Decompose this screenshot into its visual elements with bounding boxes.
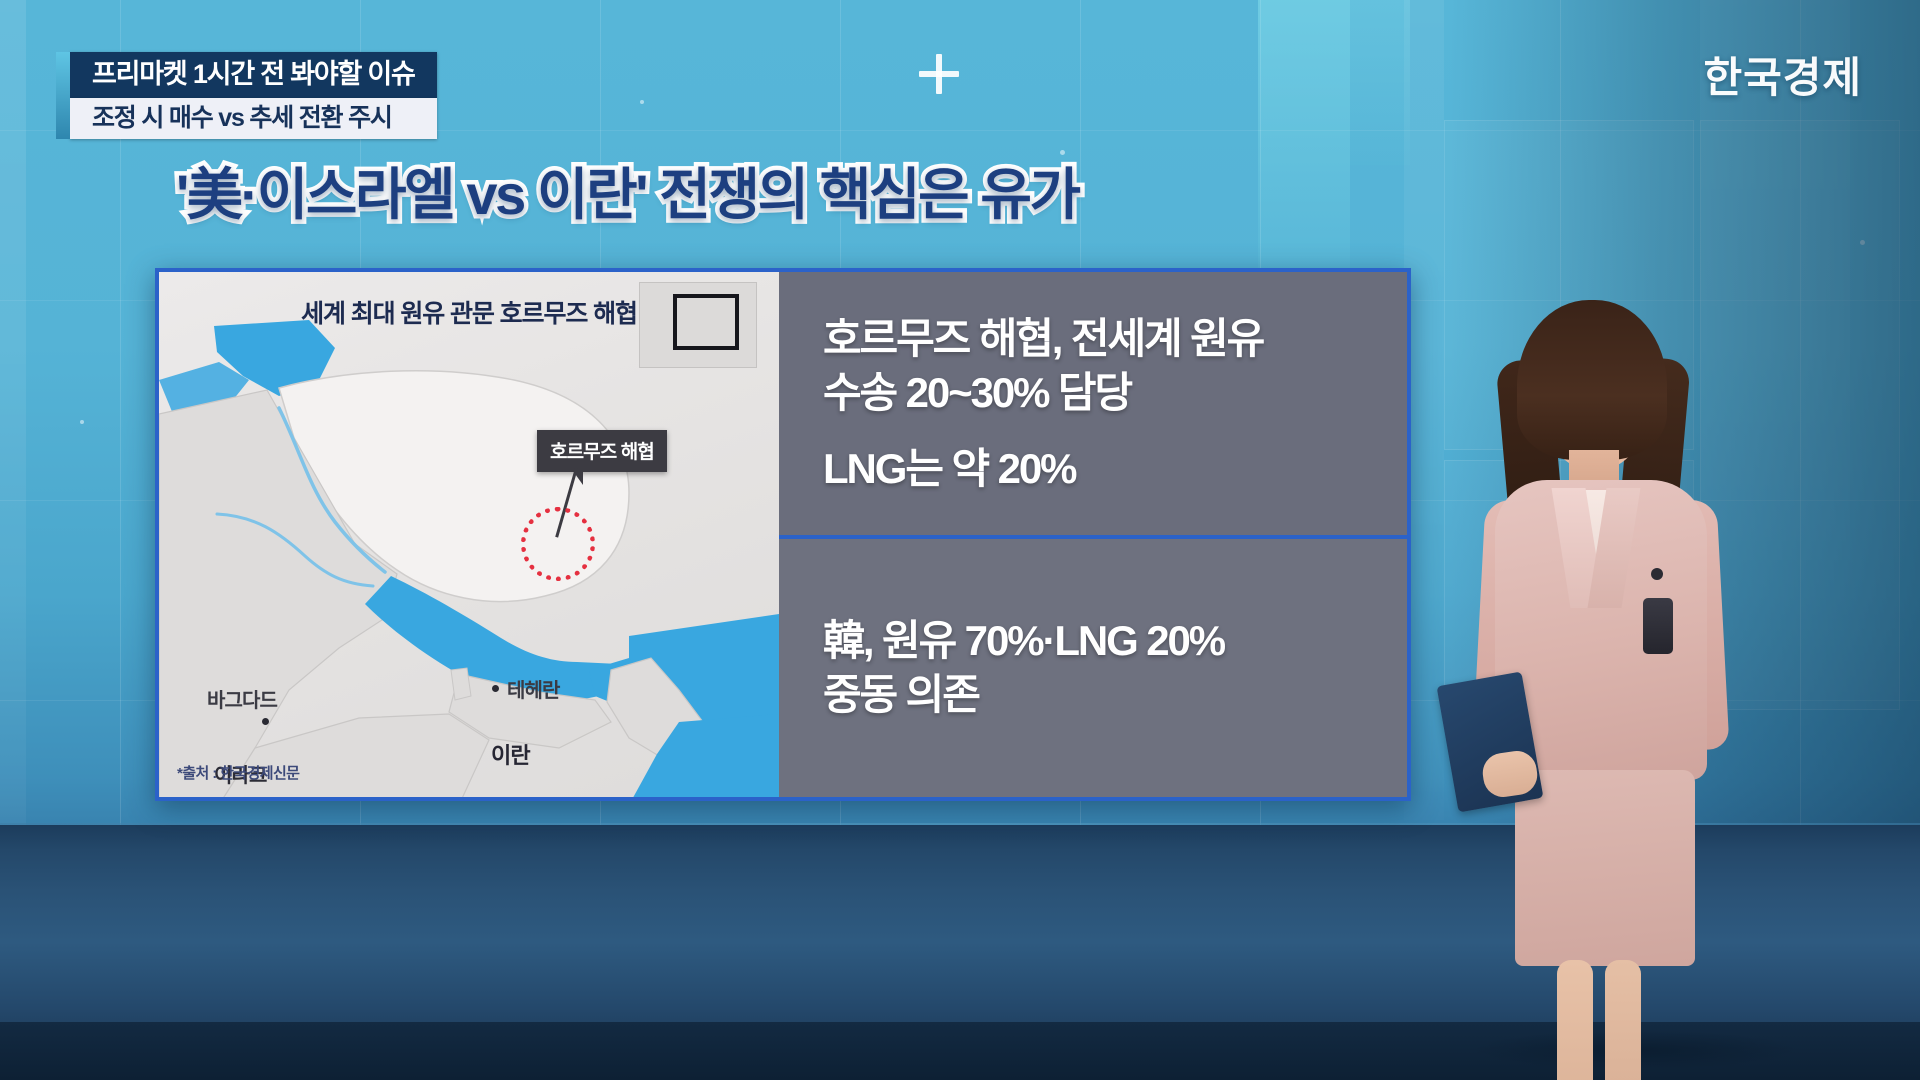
map-label-iran: 이란 [491, 738, 530, 770]
bg-speck [640, 100, 644, 104]
anchor-hair-top [1517, 300, 1667, 460]
banner-line-secondary: 조정 시 매수 vs 추세 전환 주시 [70, 98, 437, 140]
map-dot-baghdad [262, 718, 269, 725]
anchor-skirt [1515, 770, 1695, 966]
stat-line: 중동 의존 [823, 668, 1363, 722]
hormuz-strait-map [159, 318, 779, 797]
stat-line: LNG는 약 20% [823, 442, 1363, 496]
bg-teal-block [1350, 0, 1410, 165]
stat-block-korea: 韓, 원유 70%·LNG 20% 중동 의존 [779, 539, 1407, 797]
banner-accent-tab [56, 52, 70, 139]
hormuz-highlight-circle [521, 507, 595, 581]
stat-line: 수송 20~30% 담당 [823, 366, 1363, 420]
broadcaster-logo: 한국경제 [1703, 44, 1862, 105]
stats-pane: 호르무즈 해협, 전세계 원유 수송 20~30% 담당 LNG는 약 20% … [779, 272, 1407, 797]
news-anchor [1465, 300, 1765, 1080]
stat-block-hormuz: 호르무즈 해협, 전세계 원유 수송 20~30% 담당 LNG는 약 20% [779, 272, 1407, 539]
anchor-mic-pack [1643, 598, 1673, 654]
stat-line: 韓, 원유 70%·LNG 20% [823, 614, 1363, 668]
hormuz-strait-callout: 호르무즈 해협 [537, 430, 667, 472]
program-topic-banner: 프리마켓 1시간 전 봐야할 이슈 조정 시 매수 vs 추세 전환 주시 [70, 52, 437, 139]
anchor-leg-left [1557, 960, 1593, 1080]
bg-speck [80, 420, 84, 424]
map-source-note: *출처 : 한국경제신문 [177, 762, 299, 783]
anchor-leg-right [1605, 960, 1641, 1080]
banner-line-primary: 프리마켓 1시간 전 봐야할 이슈 [70, 52, 437, 98]
anchor-lapel-mic-icon [1651, 568, 1663, 580]
map-inset-highlight-frame [673, 294, 739, 350]
map-pane: 세계 최대 원유 관문 호르무즈 해협 [159, 272, 779, 797]
map-label-tehran: 테헤란 [507, 674, 560, 703]
infographic-card: 세계 최대 원유 관문 호르무즈 해협 [155, 268, 1411, 801]
plus-mark-icon [913, 48, 965, 100]
stat-line: 호르무즈 해협, 전세계 원유 [823, 312, 1363, 366]
bg-teal-block [1258, 0, 1350, 300]
map-dot-tehran [492, 685, 499, 692]
page-title: '美·이스라엘 vs 이란' 전쟁의 핵심은 유가 [176, 150, 1079, 231]
map-label-baghdad: 바그다드 [207, 684, 277, 713]
